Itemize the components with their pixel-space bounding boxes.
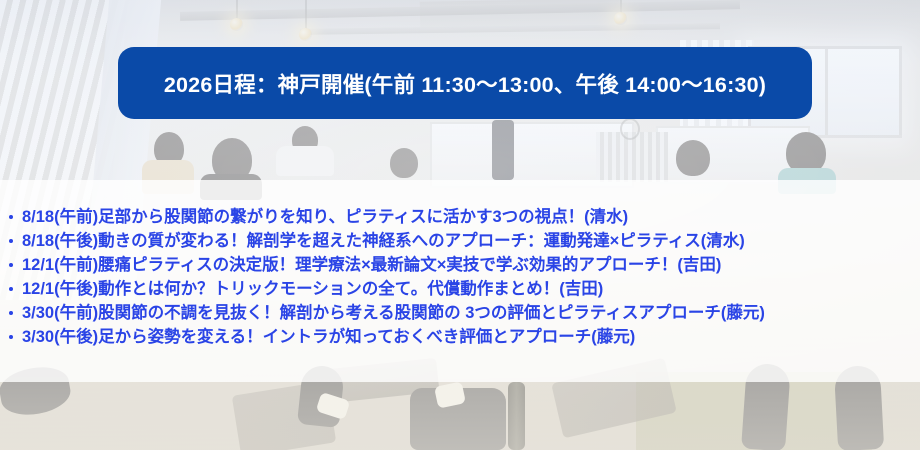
- date-banner: 2026日程：神戸開催(午前 11:30〜13:00、午後 14:00〜16:3…: [118, 47, 812, 119]
- list-item: 8/18(午後)動きの質が変わる！解剖学を超えた神経系へのアプローチ：運動発達×…: [0, 229, 920, 253]
- list-item: 3/30(午前)股関節の不調を見抜く！解剖から考える股関節の 3つの評価とピラテ…: [0, 301, 920, 325]
- schedule-list: 8/18(午前)足部から股関節の繋がりを知り、ピラティスに活かす3つの視点！(清…: [0, 180, 920, 349]
- list-item: 12/1(午後)動作とは何か？トリックモーションの全て。代償動作まとめ！(吉田): [0, 277, 920, 301]
- list-item: 3/30(午後)足から姿勢を変える！イントラが知っておくべき評価とアプローチ(藤…: [0, 325, 920, 349]
- promo-poster: 2026日程：神戸開催(午前 11:30〜13:00、午後 14:00〜16:3…: [0, 0, 920, 450]
- list-item: 12/1(午前)腰痛ピラティスの決定版！理学療法×最新論文×実技で学ぶ効果的アプ…: [0, 253, 920, 277]
- list-item: 8/18(午前)足部から股関節の繋がりを知り、ピラティスに活かす3つの視点！(清…: [0, 205, 920, 229]
- schedule-panel: 8/18(午前)足部から股関節の繋がりを知り、ピラティスに活かす3つの視点！(清…: [0, 180, 920, 382]
- date-banner-text: 2026日程：神戸開催(午前 11:30〜13:00、午後 14:00〜16:3…: [164, 68, 766, 99]
